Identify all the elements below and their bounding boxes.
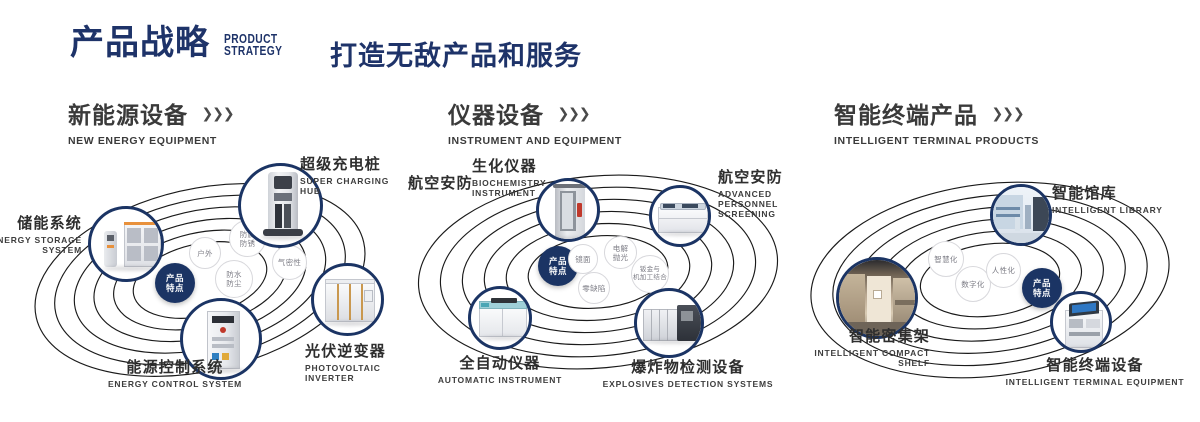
page-header: 产品战略 PRODUCT STRATEGY	[70, 26, 295, 60]
feature-bubble-label: 数字化	[961, 280, 984, 289]
label-intelligent-library: 智能馆库 INTELLIGENT LIBRARY	[1052, 182, 1163, 215]
label-energy-control-system: 能源控制系统 ENERGY CONTROL SYSTEM	[55, 356, 295, 389]
core-bubble-label: 产品 特点	[1033, 278, 1051, 298]
feature-bubble-label: 防水 防尘	[226, 270, 242, 288]
energy-storage-photo	[91, 209, 161, 279]
feature-bubble-label: 气密性	[278, 258, 301, 267]
screening-photo	[652, 188, 708, 244]
core-bubble-label: 产品 特点	[166, 273, 184, 293]
feature-bubble-label: 智慧化	[934, 255, 957, 264]
feature-bubble-label: 钣金与 机加工结合	[633, 266, 667, 282]
feature-bubble-label: 电解 抛光	[613, 244, 629, 262]
node-energy-storage-system[interactable]	[88, 206, 164, 282]
feature-bubble-label: 户外	[197, 249, 213, 258]
feature-bubble: 防水 防尘	[215, 260, 253, 298]
feature-bubble: 气密性	[272, 245, 307, 280]
label-cn: 光伏逆变器	[305, 340, 400, 361]
node-automatic-instrument[interactable]	[468, 286, 532, 350]
label-en: INTELLIGENT LIBRARY	[1052, 205, 1163, 215]
group-instrument: 产品 特点 镜面 电解 抛光 钣金与 机加工结合 零缺陷 生化仪器	[400, 150, 800, 410]
terminal-equipment-photo	[1053, 294, 1109, 350]
label-biochemistry-instrument: 生化仪器 BIOCHEMISTRY INSTRUMENT	[472, 155, 546, 198]
feature-bubble: 人性化	[986, 253, 1021, 288]
feature-bubble: 镜面	[568, 244, 598, 274]
label-intelligent-terminal-equipment: 智能终端设备 INTELLIGENT TERMINAL EQUIPMENT	[990, 354, 1200, 387]
feature-bubble: 零缺陷	[578, 272, 610, 304]
section-title-en: NEW ENERGY EQUIPMENT	[68, 135, 234, 147]
label-aviation-security: 航空安防	[408, 172, 473, 193]
label-cn: 航空安防	[408, 172, 473, 193]
group-new-energy: 产品 特点 户外 防腐 防锈 气密性 防水 防尘 超级	[0, 150, 400, 410]
node-photovoltaic-inverter[interactable]	[311, 263, 384, 336]
label-cn: 能源控制系统	[55, 356, 295, 377]
core-bubble-label: 产品 特点	[549, 256, 567, 276]
page-title-en: PRODUCT STRATEGY	[224, 33, 282, 60]
section-title-cn: 新能源设备	[68, 96, 188, 130]
label-cn: 智能密集架	[770, 325, 930, 346]
label-cn: 全自动仪器	[410, 352, 590, 373]
label-cn: 智能终端设备	[990, 354, 1200, 375]
node-advanced-personnel-screening[interactable]	[649, 185, 711, 247]
label-en: ENERGY CONTROL SYSTEM	[55, 379, 295, 389]
label-advanced-personnel-screening: 航空安防 ADVANCED PERSONNEL SCREENING	[718, 166, 800, 219]
section-title-instrument: 仪器设备 ❯❯❯ INSTRUMENT AND EQUIPMENT	[448, 96, 622, 147]
label-cn: 智能馆库	[1052, 182, 1163, 203]
chevron-right-icon: ❯❯❯	[991, 105, 1023, 122]
node-intelligent-terminal-equipment[interactable]	[1050, 291, 1112, 353]
section-title-en: INSTRUMENT AND EQUIPMENT	[448, 135, 622, 147]
label-explosives-detection: 爆炸物检测设备 EXPLOSIVES DETECTION SYSTEMS	[578, 356, 798, 389]
label-energy-storage-system: 储能系统 ENERGY STORAGE SYSTEM	[0, 212, 82, 255]
page-title: 产品战略	[70, 26, 210, 60]
explosives-detection-photo	[637, 291, 701, 355]
feature-bubble-label: 镜面	[575, 255, 591, 264]
label-cn: 储能系统	[0, 212, 82, 233]
label-cn: 航空安防	[718, 166, 800, 187]
chevron-right-icon: ❯❯❯	[201, 105, 233, 122]
label-en: EXPLOSIVES DETECTION SYSTEMS	[578, 379, 798, 389]
chevron-right-icon: ❯❯❯	[557, 105, 589, 122]
label-en: SUPER CHARGING HUB	[300, 176, 400, 196]
label-cn: 爆炸物检测设备	[578, 356, 798, 377]
feature-bubble-label: 人性化	[992, 266, 1015, 275]
label-photovoltaic-inverter: 光伏逆变器 PHOTOVOLTAIC INVERTER	[305, 340, 400, 383]
section-title-cn: 仪器设备	[448, 96, 544, 130]
feature-bubble: 电解 抛光	[604, 236, 637, 269]
automatic-instrument-photo	[471, 289, 529, 347]
label-en: ADVANCED PERSONNEL SCREENING	[718, 189, 800, 219]
label-intelligent-compact-shelf: 智能密集架 INTELLIGENT COMPACT SHELF	[770, 325, 930, 368]
section-title-new-energy: 新能源设备 ❯❯❯ NEW ENERGY EQUIPMENT	[68, 96, 234, 147]
infographic-page: 产品战略 PRODUCT STRATEGY 打造无敌产品和服务 新能源设备 ❯❯…	[0, 0, 1200, 422]
label-en: AUTOMATIC INSTRUMENT	[410, 375, 590, 385]
feature-bubble-label: 零缺陷	[582, 284, 605, 293]
label-automatic-instrument: 全自动仪器 AUTOMATIC INSTRUMENT	[410, 352, 590, 385]
section-title-intelligent-terminal: 智能终端产品 ❯❯❯ INTELLIGENT TERMINAL PRODUCTS	[834, 96, 1039, 147]
library-photo	[993, 187, 1049, 243]
label-super-charging-hub: 超级充电桩 SUPER CHARGING HUB	[300, 153, 400, 196]
inverter-photo	[314, 266, 381, 333]
page-subtitle: 打造无敌产品和服务	[330, 34, 582, 73]
label-en: BIOCHEMISTRY INSTRUMENT	[472, 178, 546, 198]
node-explosives-detection[interactable]	[634, 288, 704, 358]
group-intelligent-terminal: 产品 特点 智慧化 数字化 人性化 智能馆库 INTEL	[800, 150, 1200, 410]
core-bubble: 产品 特点	[155, 263, 195, 303]
label-en: ENERGY STORAGE SYSTEM	[0, 235, 82, 255]
label-cn: 生化仪器	[472, 155, 546, 176]
section-title-en: INTELLIGENT TERMINAL PRODUCTS	[834, 135, 1039, 147]
feature-bubble: 钣金与 机加工结合	[631, 255, 669, 293]
label-en: PHOTOVOLTAIC INVERTER	[305, 363, 400, 383]
label-en: INTELLIGENT TERMINAL EQUIPMENT	[990, 377, 1200, 387]
node-intelligent-library[interactable]	[990, 184, 1052, 246]
feature-bubble: 户外	[189, 237, 221, 269]
biochemistry-photo	[539, 181, 597, 239]
label-en: INTELLIGENT COMPACT SHELF	[770, 348, 930, 368]
section-title-cn: 智能终端产品	[834, 96, 978, 130]
label-cn: 超级充电桩	[300, 153, 400, 174]
